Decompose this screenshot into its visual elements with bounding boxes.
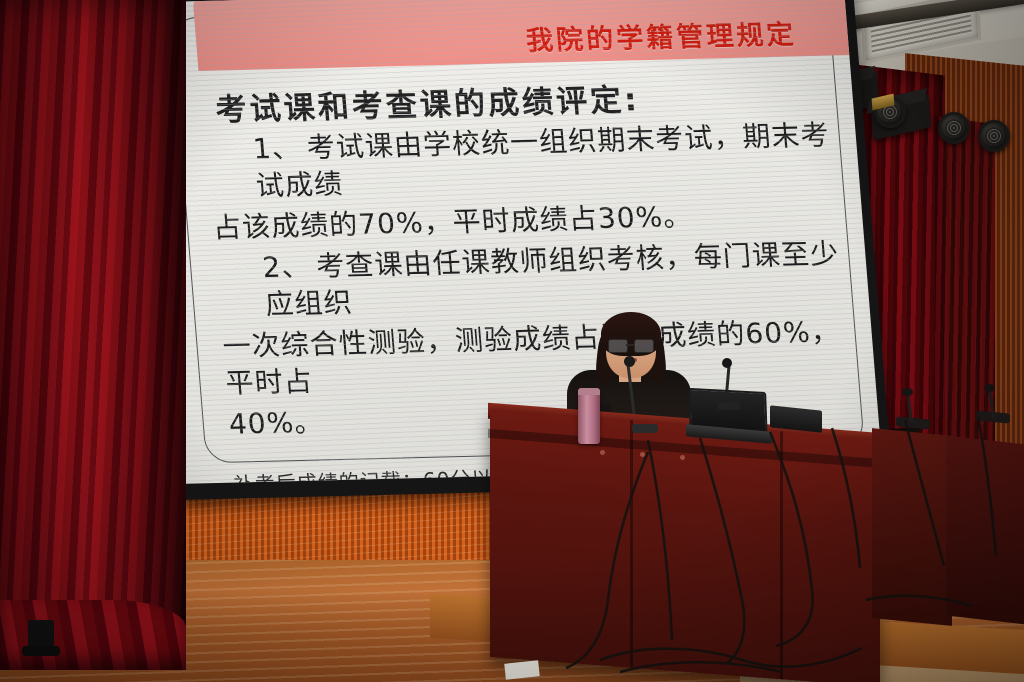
- curtain-right-secondary: [935, 116, 995, 454]
- par-light-icon: [938, 112, 970, 144]
- slide-item-2: 2、考查课由任课教师组织考核，每门课至少应组织: [215, 236, 852, 325]
- microphone-base-2: [718, 402, 740, 410]
- microphone-head-icon-4: [984, 384, 995, 392]
- par-light-icon: [978, 120, 1010, 152]
- microphone-head-icon-2: [722, 358, 732, 368]
- slide-item-1: 1、考试课由学校统一组织期末考试，期末考试成绩: [205, 117, 842, 206]
- slide-item-2-line1: 考查课由任课教师组织考核，每门课至少应组织: [264, 237, 840, 321]
- slide-item-2-cont: 一次综合性测验，测验成绩占该课成绩的60%，平时占: [221, 313, 858, 402]
- slide-item-1-line1: 考试课由学校统一组织期末考试，期末考试成绩: [255, 119, 831, 203]
- table-section-3: [946, 436, 1024, 625]
- slide-item-1-number: 1、: [252, 131, 303, 165]
- curtain-left: [0, 0, 186, 648]
- microphone-head-icon-3: [902, 388, 913, 396]
- microphone-head-icon: [624, 356, 635, 367]
- slide-item-2-number: 2、: [261, 250, 312, 284]
- glasses-icon: [608, 339, 654, 351]
- lecture-hall-scene: 我院的学籍管理规定 考试课和考查课的成绩评定: 1、考试课由学校统一组织期末考试…: [0, 0, 1024, 682]
- thermos-cap: [578, 388, 600, 395]
- microphone-base: [632, 424, 658, 433]
- equipment-stand-base: [28, 620, 54, 654]
- thermos-bottle: [578, 392, 600, 444]
- table-section-2: [872, 428, 952, 626]
